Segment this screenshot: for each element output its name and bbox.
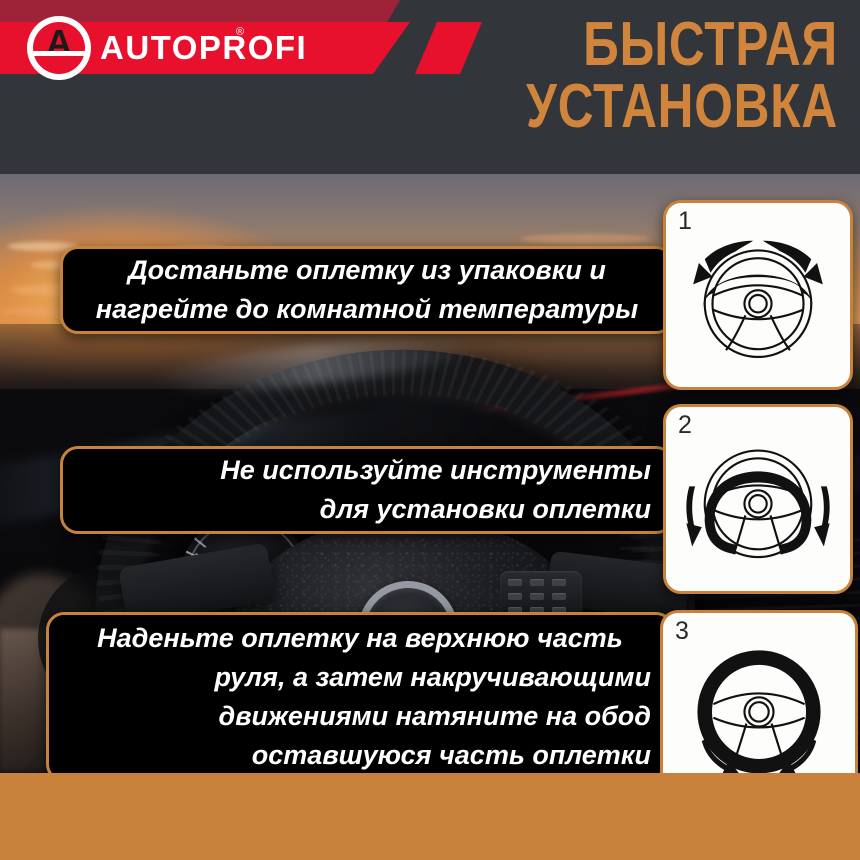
logo-cross-bar: [30, 51, 88, 56]
callout-3-line-3: движениями натяните на обод: [219, 697, 651, 736]
infographic-page: A AUTOPROFI ® БЫСТРАЯ УСТАНОВКА Достаньт…: [0, 0, 860, 860]
instruction-callout-1: Достаньте оплетку из упаковки и нагрейте…: [60, 246, 674, 334]
registered-trademark-icon: ®: [236, 26, 244, 38]
header-bar: A AUTOPROFI ® БЫСТРАЯ УСТАНОВКА: [0, 0, 860, 174]
callout-3-line-1: Наденьте оплетку на верхнюю часть: [97, 619, 623, 658]
page-title: БЫСТРАЯ УСТАНОВКА: [422, 14, 838, 138]
callout-3-line-2: руля, а затем накручивающими: [214, 658, 651, 697]
bottom-orange-bar: [0, 773, 860, 860]
page-title-line-2: УСТАНОВКА: [422, 76, 838, 138]
steering-wheel-cover-sides-icon: [666, 407, 850, 591]
step-card-2: 2: [663, 404, 853, 594]
steering-wheel-cover-top-icon: [666, 203, 850, 387]
callout-1-line-2: нагрейте до комнатной температуры: [96, 290, 638, 329]
autoprofi-logo-mark: A: [27, 16, 91, 80]
callout-2-line-2: для установки оплетки: [320, 490, 651, 529]
instruction-callout-2: Не используйте инструменты для установки…: [60, 446, 674, 534]
callout-1-line-1: Достаньте оплетку из упаковки и: [128, 251, 606, 290]
callout-2-line-1: Не используйте инструменты: [220, 451, 651, 490]
page-title-line-1: БЫСТРАЯ: [422, 14, 838, 76]
step-card-1: 1: [663, 200, 853, 390]
callout-3-line-4: оставшуюся часть оплетки: [252, 736, 651, 775]
brand-wordmark: AUTOPROFI: [100, 28, 307, 68]
instruction-callout-3: Наденьте оплетку на верхнюю часть руля, …: [46, 612, 674, 782]
